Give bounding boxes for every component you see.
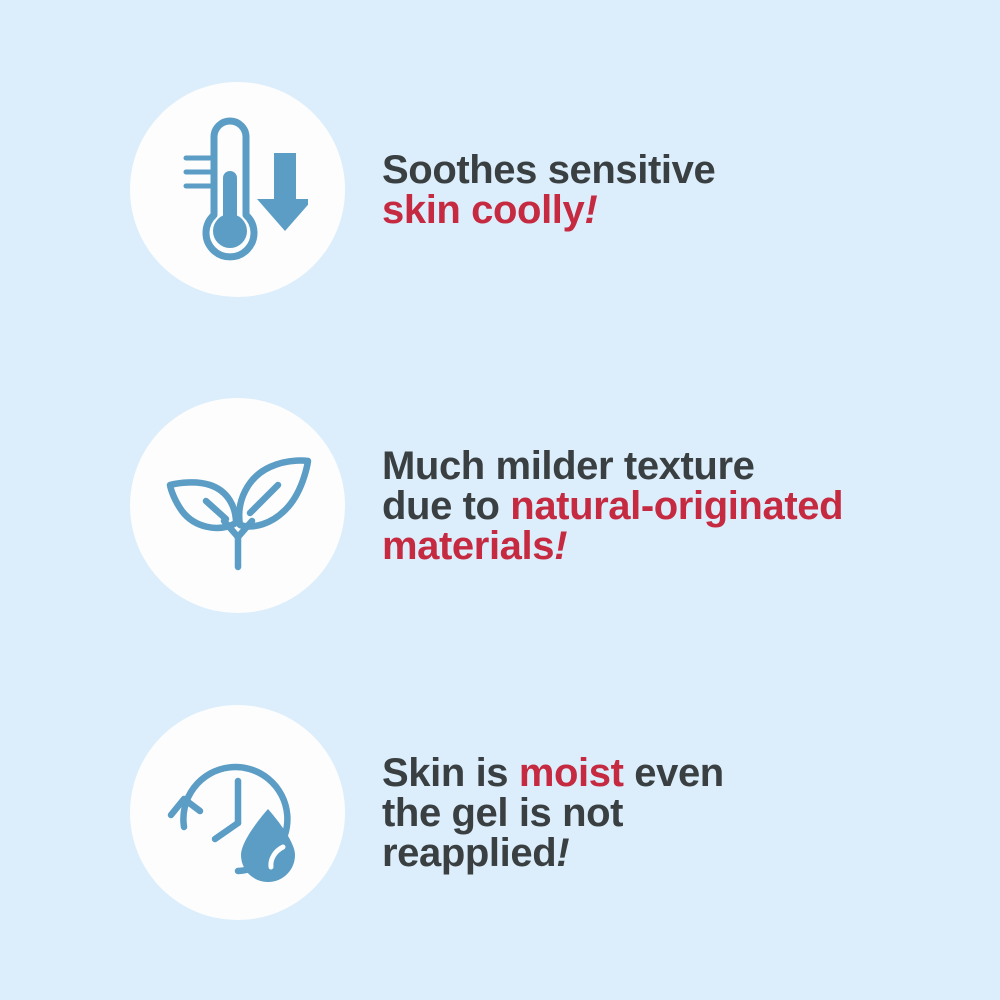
text-segment-exclamation: ! (584, 188, 597, 232)
text-segment-highlight: natural-originated (510, 484, 843, 528)
text-segment: reapplied (382, 831, 556, 875)
text-segment: the gel is not (382, 791, 623, 835)
feature-text-line: Skin is moist even (382, 753, 942, 793)
feature-text: Soothes sensitive skin coolly! (382, 150, 942, 230)
thermometer-down-icon-badge (130, 82, 345, 297)
text-segment: Soothes sensitive (382, 148, 715, 192)
feature-text-line: materials! (382, 526, 942, 566)
text-segment-exclamation: ! (554, 524, 567, 568)
feature-row: Skin is moist even the gel is not reappl… (0, 705, 1000, 920)
text-segment: even (624, 751, 724, 795)
feature-text: Much milder texture due to natural-origi… (382, 446, 942, 566)
feature-text-line: Soothes sensitive (382, 150, 942, 190)
sprout-leaf-icon-badge (130, 398, 345, 613)
text-segment: Much milder texture (382, 444, 754, 488)
clock-arrow-droplet-icon-badge (130, 705, 345, 920)
feature-row: Soothes sensitive skin coolly! (0, 82, 1000, 297)
text-segment-highlight: moist (519, 751, 624, 795)
feature-text-line: reapplied! (382, 833, 942, 873)
sprout-leaf-icon (158, 441, 318, 571)
benefits-poster: Soothes sensitive skin coolly! (0, 0, 1000, 1000)
feature-text-line: due to natural-originated (382, 486, 942, 526)
thermometer-down-icon (168, 115, 308, 265)
text-segment: Skin is (382, 751, 519, 795)
feature-text-line: the gel is not (382, 793, 942, 833)
text-segment-exclamation: ! (556, 831, 569, 875)
feature-text-line: skin coolly! (382, 190, 942, 230)
feature-row: Much milder texture due to natural-origi… (0, 398, 1000, 613)
text-segment: due to (382, 484, 510, 528)
text-segment-highlight: materials (382, 524, 554, 568)
feature-text-line: Much milder texture (382, 446, 942, 486)
feature-text: Skin is moist even the gel is not reappl… (382, 753, 942, 873)
text-segment-highlight: skin coolly (382, 188, 584, 232)
clock-arrow-droplet-icon (163, 743, 313, 883)
